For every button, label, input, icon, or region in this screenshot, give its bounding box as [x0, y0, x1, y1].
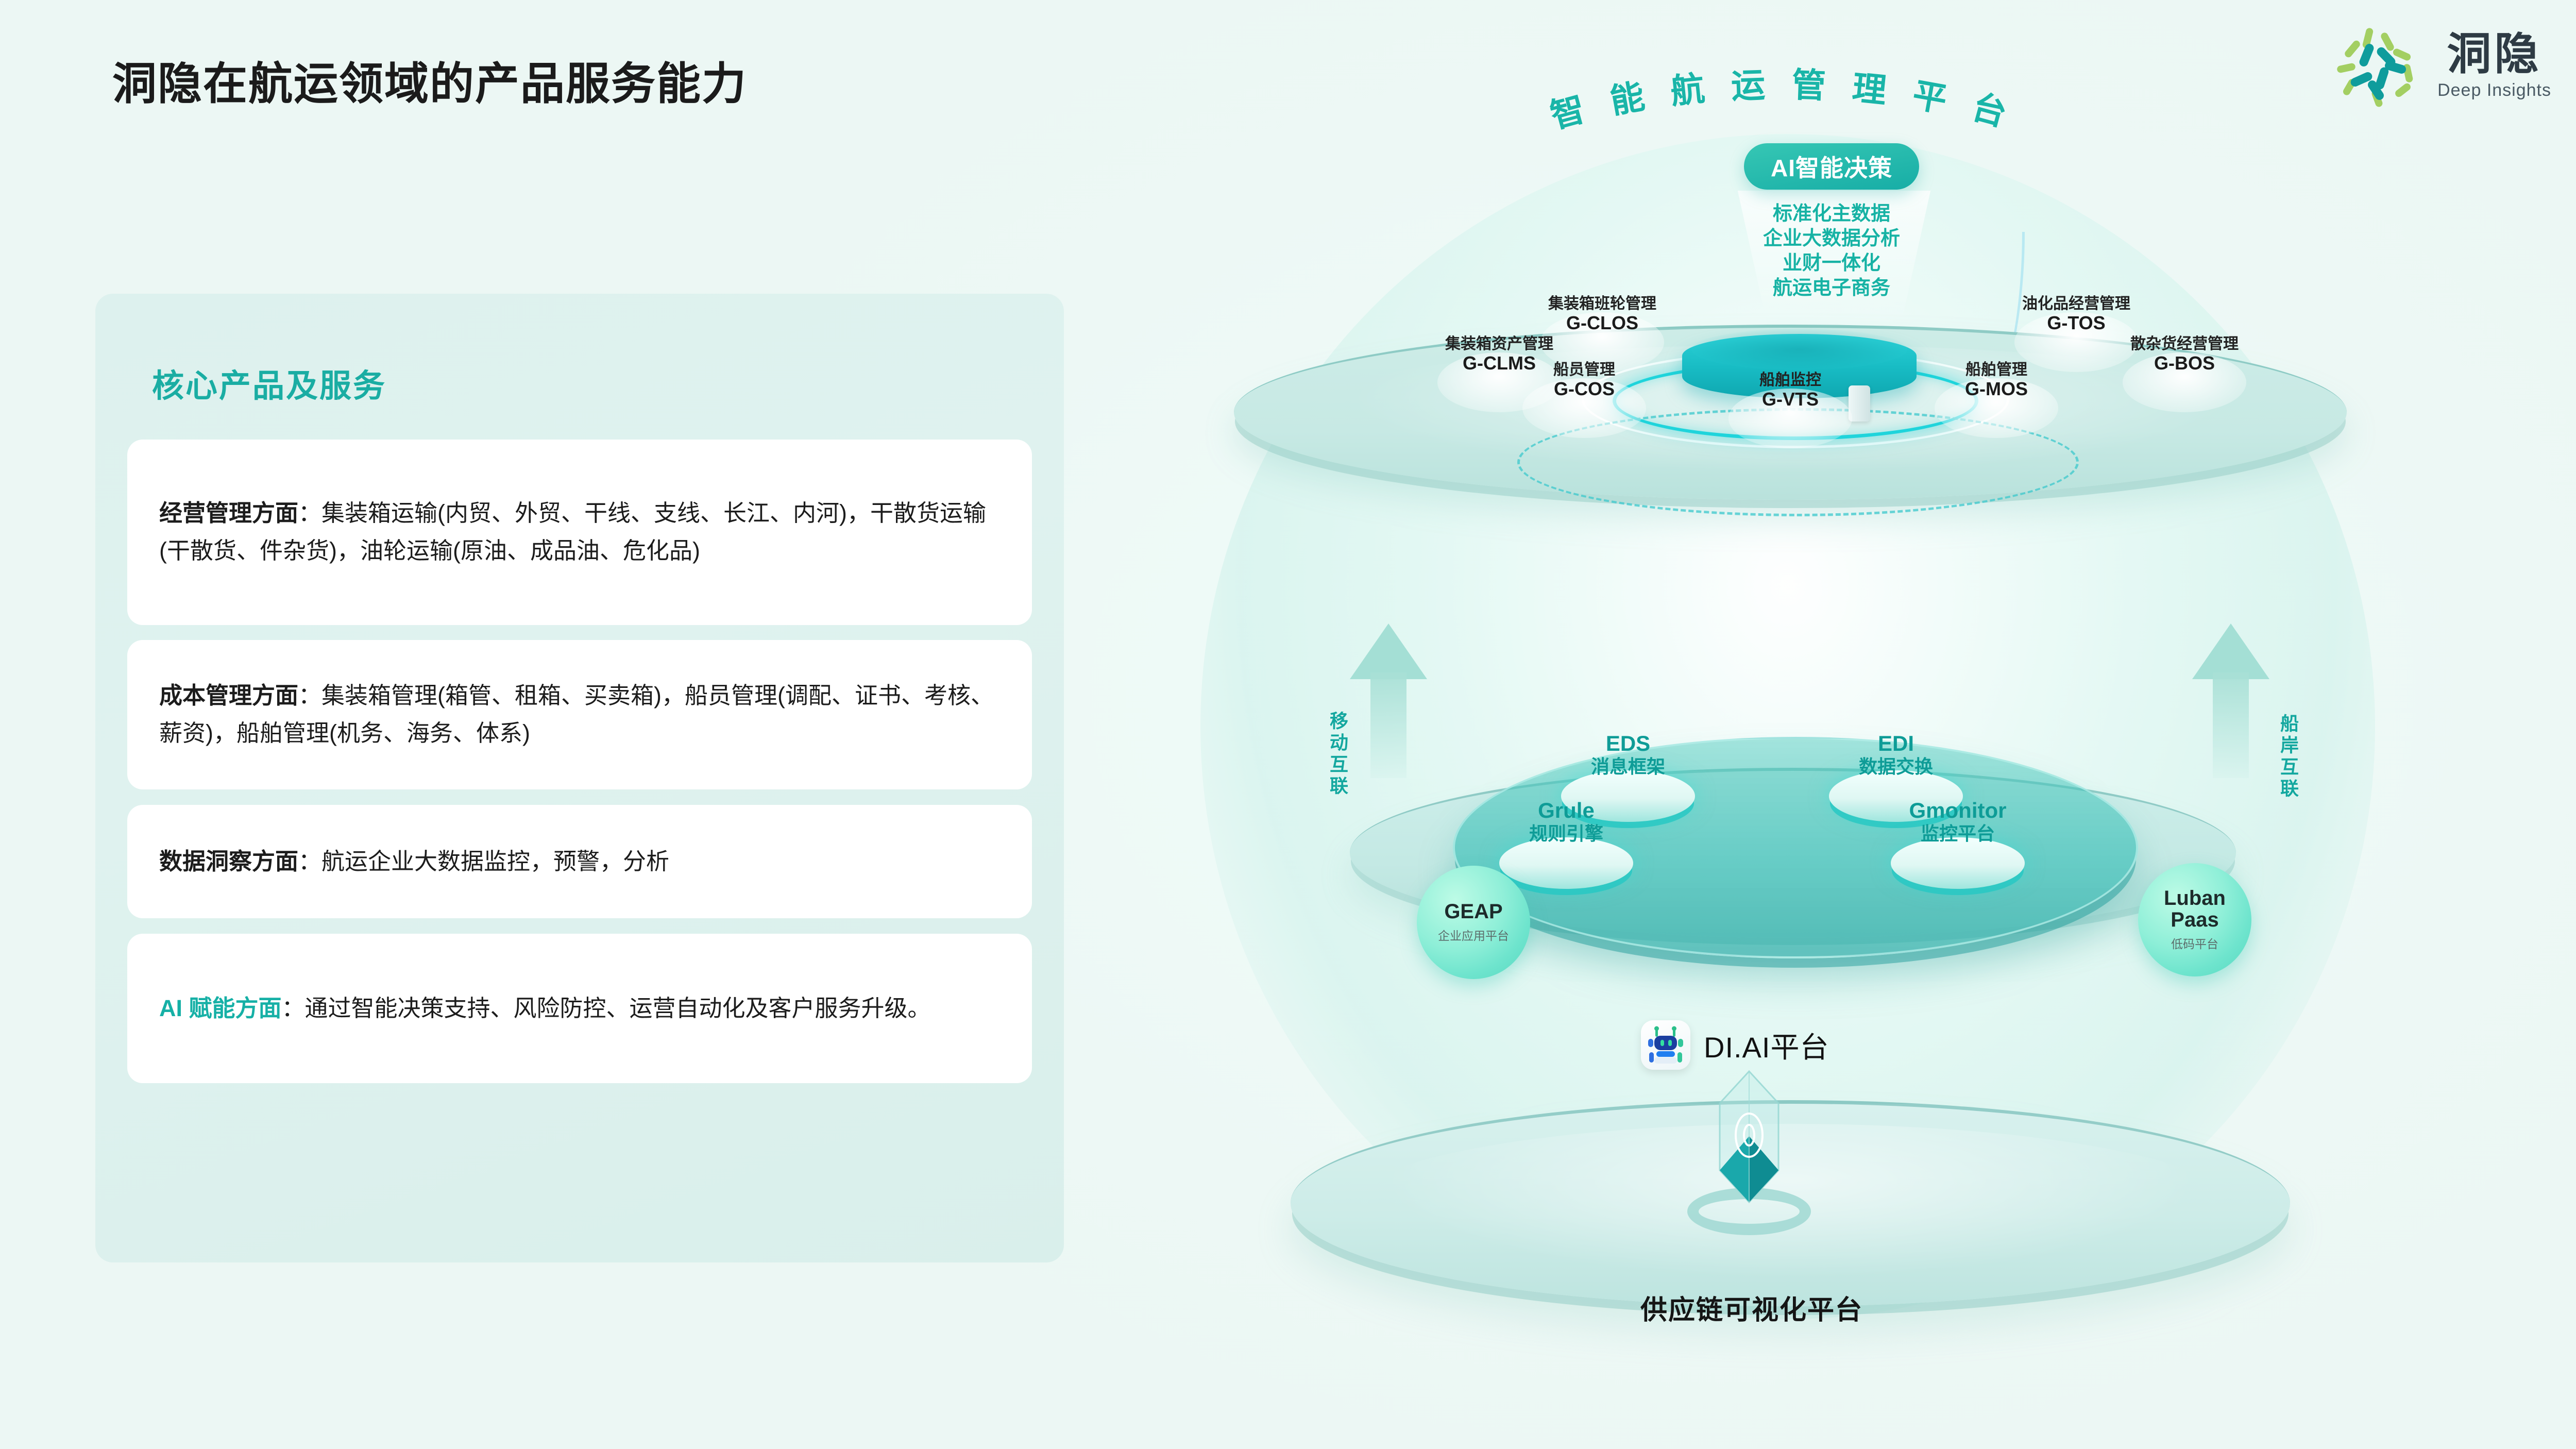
sphere-luban-paas[interactable]: Luban Paas 低码平台 [2138, 863, 2251, 976]
module-g-vts[interactable]: 船舶监控 G-VTS [1721, 371, 1860, 410]
module-g-cos[interactable]: 船员管理 G-COS [1515, 361, 1654, 400]
puck-name: 规则引擎 [1499, 822, 1633, 845]
card-separator: ： [298, 848, 321, 874]
ship-shore-connect-arrow-icon [2192, 624, 2269, 778]
di-ai-platform: DI.AI平台 [1641, 1020, 1829, 1070]
panel-heading: 核心产品及服务 [152, 360, 386, 406]
module-name: 油化品经营管理 [1999, 295, 2154, 313]
puck-code: Gmonitor [1886, 799, 2030, 822]
side-label-right: 船岸互联 [2275, 714, 2301, 800]
card-separator: ： [282, 995, 305, 1021]
module-g-clos[interactable]: 集装箱班轮管理 G-CLOS [1525, 295, 1680, 334]
module-code: G-TOS [1999, 313, 2154, 333]
feature-list: 标准化主数据 企业大数据分析 业财一体化 航运电子商务 [1710, 202, 1953, 301]
feature-item: 航运电子商务 [1710, 276, 1953, 301]
product-card: 成本管理方面：集装箱管理(箱管、租箱、买卖箱)，船员管理(调配、证书、考核、薪资… [127, 640, 1032, 789]
card-label: 成本管理方面 [159, 682, 298, 709]
platform-architecture-diagram: 智 能 航 运 管 理 平 台 AI智能决策 标准化主数据 企业大数据分析 业财… [1108, 62, 2545, 1412]
puck-code: EDS [1561, 732, 1695, 755]
sphere-geap[interactable]: GEAP 企业应用平台 [1417, 866, 1530, 979]
page-title: 洞隐在航运领域的产品服务能力 [112, 47, 747, 112]
sphere-name: 低码平台 [2171, 934, 2218, 952]
puck-label-grule: Grule 规则引擎 [1499, 799, 1633, 845]
bottom-platform-label: 供应链可视化平台 [1108, 1288, 2396, 1327]
puck-code: Grule [1499, 799, 1633, 822]
robot-icon [1641, 1020, 1690, 1070]
module-name: 散杂货经营管理 [2102, 335, 2267, 353]
ai-decision-badge[interactable]: AI智能决策 [1744, 143, 1919, 190]
sphere-code: GEAP [1444, 901, 1502, 923]
module-name: 集装箱资产管理 [1422, 335, 1577, 353]
arc-title-text: 智 能 航 运 管 理 平 台 [1547, 65, 2019, 135]
visibility-gem-icon [1700, 1069, 1798, 1219]
module-code: G-COS [1515, 379, 1654, 399]
puck-code: EDI [1829, 732, 1963, 755]
puck-label-gmonitor: Gmonitor 监控平台 [1886, 799, 2030, 845]
card-label: 数据洞察方面 [159, 848, 298, 874]
side-label-left: 移动互联 [1324, 711, 1351, 798]
card-text: 航运企业大数据监控，预警，分析 [321, 848, 669, 874]
sphere-code-line1: Luban [2164, 888, 2226, 909]
puck-name: 监控平台 [1886, 822, 2030, 845]
card-label: 经营管理方面 [159, 500, 298, 526]
sphere-name: 企业应用平台 [1438, 926, 1509, 943]
product-card: AI 赋能方面：通过智能决策支持、风险防控、运营自动化及客户服务升级。 [127, 934, 1032, 1083]
mobile-connect-arrow-icon [1350, 624, 1427, 778]
module-name: 集装箱班轮管理 [1525, 295, 1680, 313]
module-name: 船员管理 [1515, 361, 1654, 379]
module-g-tos[interactable]: 油化品经营管理 G-TOS [1999, 295, 2154, 334]
puck-label-edi: EDI 数据交换 [1829, 732, 1963, 778]
module-name: 船舶监控 [1721, 371, 1860, 389]
module-g-bos[interactable]: 散杂货经营管理 G-BOS [2102, 335, 2267, 374]
puck-gmonitor[interactable] [1891, 837, 2025, 889]
module-code: G-BOS [2102, 353, 2267, 374]
module-code: G-CLOS [1525, 313, 1680, 333]
feature-item: 标准化主数据 [1710, 202, 1953, 227]
feature-item: 业财一体化 [1710, 251, 1953, 276]
card-separator: ： [298, 682, 321, 709]
puck-name: 数据交换 [1829, 755, 1963, 778]
product-card: 经营管理方面：集装箱运输(内贸、外贸、干线、支线、长江、内河)，干散货运输(干散… [127, 440, 1032, 625]
sphere-code-line2: Paas [2171, 909, 2218, 931]
module-code: G-VTS [1721, 389, 1860, 410]
core-products-panel: 核心产品及服务 经营管理方面：集装箱运输(内贸、外贸、干线、支线、长江、内河)，… [95, 294, 1064, 1262]
card-separator: ： [298, 500, 321, 526]
module-code: G-MOS [1927, 379, 2066, 399]
feature-item: 企业大数据分析 [1710, 227, 1953, 251]
puck-label-eds: EDS 消息框架 [1561, 732, 1695, 778]
card-text: 通过智能决策支持、风险防控、运营自动化及客户服务升级。 [305, 995, 931, 1021]
di-ai-label: DI.AI平台 [1704, 1024, 1829, 1066]
puck-grule[interactable] [1499, 837, 1633, 889]
card-label: AI 赋能方面 [159, 995, 282, 1021]
product-card: 数据洞察方面：航运企业大数据监控，预警，分析 [127, 805, 1032, 918]
puck-name: 消息框架 [1561, 755, 1695, 778]
